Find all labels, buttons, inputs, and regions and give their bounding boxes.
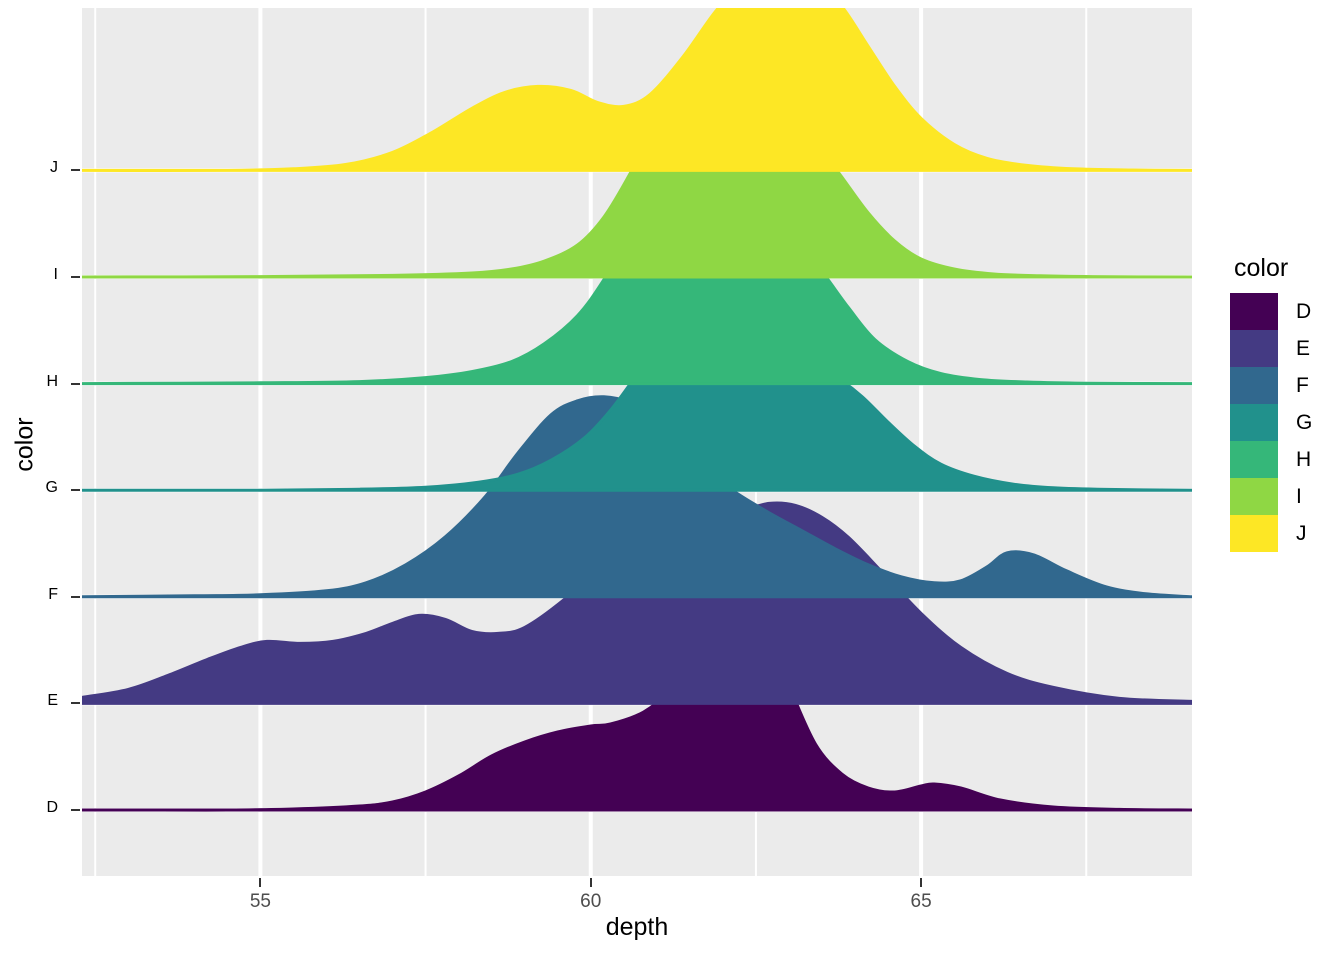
legend-title: color	[1234, 255, 1340, 281]
legend-item-g[interactable]: G	[1230, 404, 1340, 441]
legend-label-e: E	[1296, 338, 1310, 359]
density-ridges-svg	[82, 8, 1192, 876]
y-tick-mark-g	[71, 489, 80, 491]
legend-item-d[interactable]: D	[1230, 293, 1340, 330]
x-tick-label-55: 55	[250, 892, 271, 911]
ridge-j	[82, 8, 1192, 171]
y-tick-mark-i	[71, 276, 80, 278]
legend-label-d: D	[1296, 301, 1311, 322]
legend-swatch-h	[1230, 441, 1278, 478]
legend-label-g: G	[1296, 412, 1312, 433]
ridgeline-chart-figure: DEFGHIJ 556065 depth color color DEFGHIJ	[0, 0, 1344, 960]
x-tick-label-65: 65	[911, 892, 932, 911]
legend-item-j[interactable]: J	[1230, 515, 1340, 552]
y-tick-label-i: I	[10, 266, 58, 284]
y-tick-label-e: E	[10, 692, 58, 710]
legend-swatch-d	[1230, 293, 1278, 330]
plot-panel	[82, 8, 1192, 876]
legend-item-h[interactable]: H	[1230, 441, 1340, 478]
x-axis-title: depth	[82, 913, 1192, 942]
x-tick-mark-65	[920, 878, 922, 887]
y-tick-mark-f	[71, 596, 80, 598]
y-tick-mark-j	[71, 169, 80, 171]
legend-label-f: F	[1296, 375, 1309, 396]
ridge-series-group	[82, 8, 1192, 810]
x-tick-mark-60	[590, 878, 592, 887]
legend-swatch-e	[1230, 330, 1278, 367]
y-tick-label-d: D	[10, 799, 58, 817]
legend-swatch-f	[1230, 367, 1278, 404]
y-tick-mark-d	[71, 809, 80, 811]
y-tick-label-f: F	[10, 586, 58, 604]
legend-item-i[interactable]: I	[1230, 478, 1340, 515]
legend-items: DEFGHIJ	[1230, 293, 1340, 552]
y-axis-title: color	[11, 385, 40, 505]
y-tick-mark-h	[71, 383, 80, 385]
x-tick-mark-55	[259, 878, 261, 887]
legend-label-j: J	[1296, 523, 1307, 544]
legend-swatch-j	[1230, 515, 1278, 552]
legend-label-h: H	[1296, 449, 1311, 470]
y-tick-mark-e	[71, 702, 80, 704]
legend-item-e[interactable]: E	[1230, 330, 1340, 367]
legend-swatch-g	[1230, 404, 1278, 441]
x-tick-label-60: 60	[580, 892, 601, 911]
y-tick-label-j: J	[10, 159, 58, 177]
legend: color DEFGHIJ	[1230, 255, 1340, 552]
legend-item-f[interactable]: F	[1230, 367, 1340, 404]
legend-swatch-i	[1230, 478, 1278, 515]
legend-label-i: I	[1296, 486, 1302, 507]
